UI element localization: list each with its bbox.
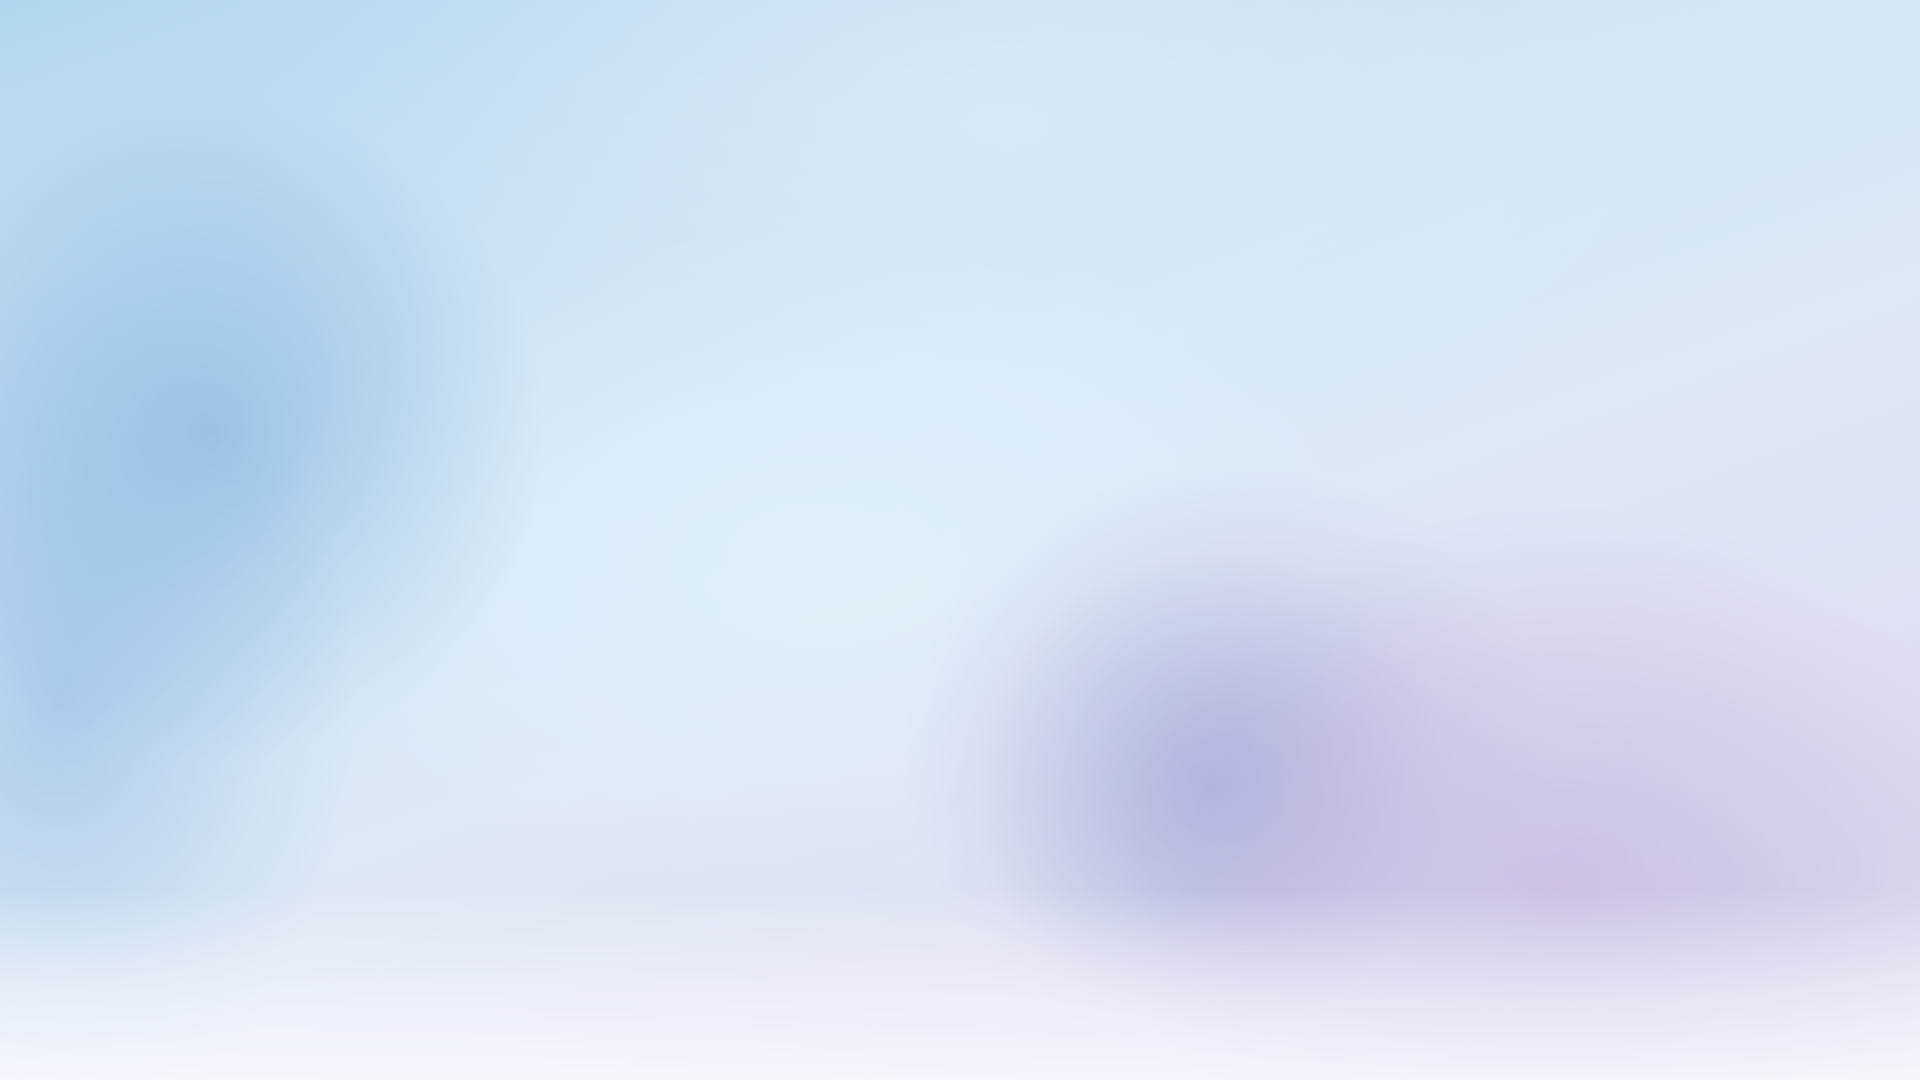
process-chevron-band	[90, 377, 1850, 471]
risk-assessment-process-diagram	[0, 0, 1920, 1080]
